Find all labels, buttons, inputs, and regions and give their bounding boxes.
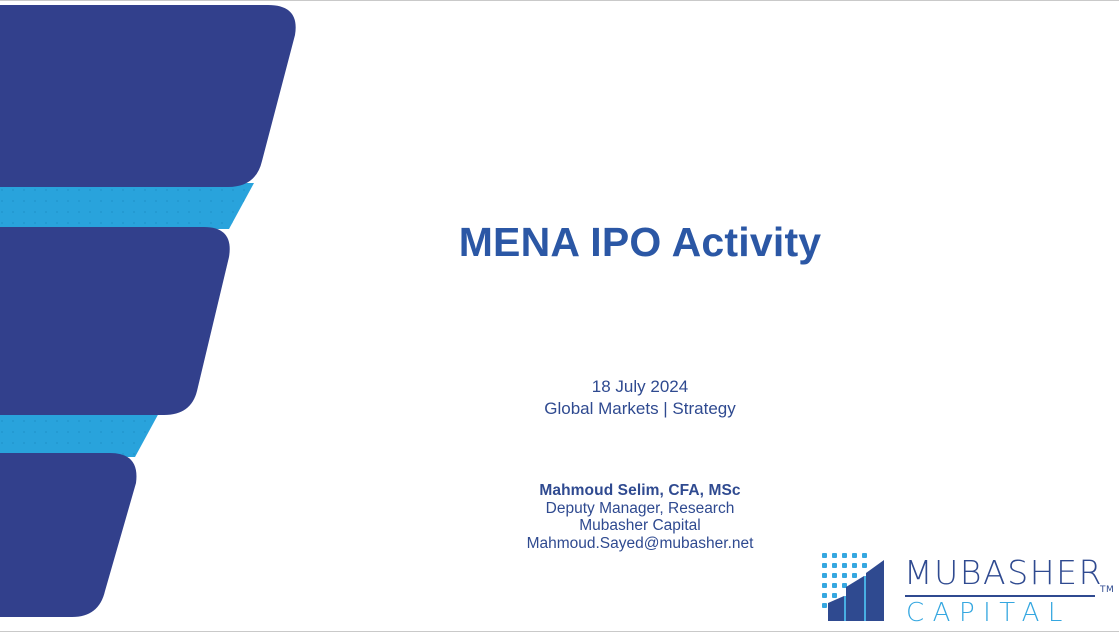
presentation-slide: MENA IPO Activity 18 July 2024 Global Ma… bbox=[0, 0, 1119, 632]
logo-mubasher-text: MUBASHER bbox=[904, 556, 1103, 590]
deco-cyan-stripe-1 bbox=[0, 183, 254, 229]
author-name: Mahmoud Selim, CFA, MSc bbox=[300, 482, 980, 500]
deco-cyan-stripe-2 bbox=[0, 411, 160, 457]
left-decorative-graphic bbox=[0, 1, 330, 632]
author-block: Mahmoud Selim, CFA, MSc Deputy Manager, … bbox=[300, 482, 980, 552]
slide-content: MENA IPO Activity 18 July 2024 Global Ma… bbox=[300, 1, 1119, 632]
deco-navy-shape-1 bbox=[0, 5, 296, 187]
slide-department: Global Markets | Strategy bbox=[300, 398, 980, 420]
logo-wordmark: MUBASHER CAPITAL TM bbox=[904, 551, 1104, 623]
author-company: Mubasher Capital bbox=[300, 517, 980, 535]
slide-meta: 18 July 2024 Global Markets | Strategy bbox=[300, 376, 980, 420]
slide-date: 18 July 2024 bbox=[300, 376, 980, 398]
logo-capital-text: CAPITAL bbox=[906, 599, 1071, 627]
deco-navy-shape-3 bbox=[0, 453, 136, 617]
logo-divider-rule bbox=[905, 595, 1095, 597]
deco-navy-shape-2 bbox=[0, 227, 230, 415]
author-role: Deputy Manager, Research bbox=[300, 500, 980, 518]
logo-trademark-mark: TM bbox=[1100, 585, 1114, 595]
bar-chart-logo-icon bbox=[820, 551, 890, 623]
mubasher-capital-logo: MUBASHER CAPITAL TM bbox=[820, 546, 1110, 628]
page-title: MENA IPO Activity bbox=[300, 219, 980, 266]
